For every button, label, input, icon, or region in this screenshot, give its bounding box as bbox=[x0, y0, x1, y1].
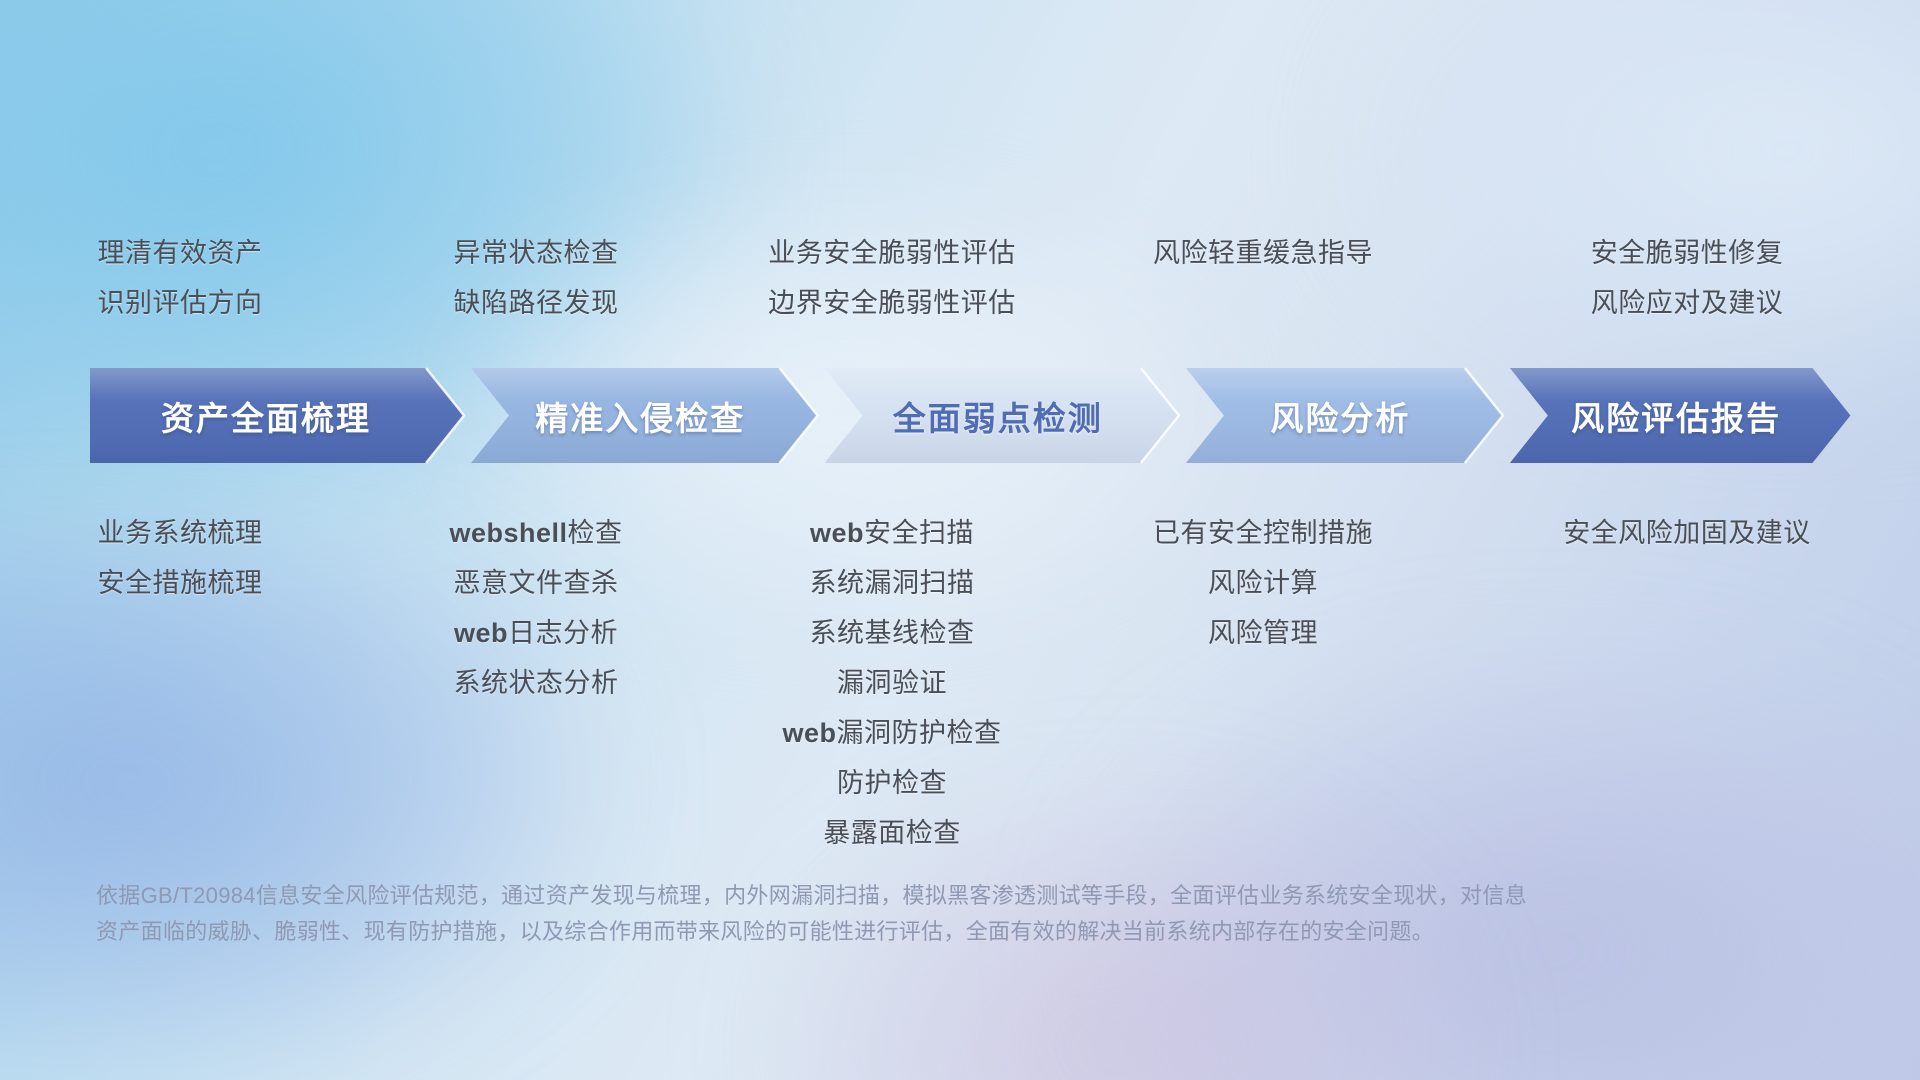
top-item: 业务安全脆弱性评估 bbox=[768, 228, 1016, 278]
bottom-item-latin: webshell bbox=[449, 518, 567, 548]
top-item: 安全脆弱性修复 bbox=[1591, 228, 1784, 278]
bottom-item: 安全风险加固及建议 bbox=[1563, 508, 1811, 558]
bottom-item: 系统基线检查 bbox=[810, 608, 975, 658]
bottom-item-cjk: 风险计算 bbox=[1208, 568, 1318, 598]
bottom-item-cjk: 系统基线检查 bbox=[810, 618, 975, 648]
process-stage-gloss-asset-inventory bbox=[90, 368, 464, 463]
bottom-item: web漏洞防护检查 bbox=[782, 708, 1001, 758]
bottom-item-cjk: 安全措施梳理 bbox=[98, 568, 263, 598]
top-label-row: 理清有效资产识别评估方向异常状态检查缺陷路径发现业务安全脆弱性评估边界安全脆弱性… bbox=[0, 228, 1920, 338]
bottom-item: 系统状态分析 bbox=[454, 658, 619, 708]
bottom-item: 业务系统梳理 bbox=[98, 508, 263, 558]
process-stage-gloss-weakness-detection bbox=[825, 368, 1179, 463]
bottom-column-asset-inventory: 业务系统梳理安全措施梳理 bbox=[0, 508, 360, 608]
bottom-item-cjk: 安全风险加固及建议 bbox=[1563, 518, 1811, 548]
bottom-item-cjk: 漏洞验证 bbox=[837, 668, 947, 698]
bottom-item-cjk: 风险管理 bbox=[1208, 618, 1318, 648]
bottom-item: web日志分析 bbox=[454, 608, 618, 658]
process-chevron-bar: 资产全面梳理精准入侵检查全面弱点检测风险分析风险评估报告 bbox=[90, 368, 1850, 463]
bottom-column-assessment-report: 安全风险加固及建议 bbox=[1454, 508, 1920, 558]
bottom-item: webshell检查 bbox=[449, 508, 622, 558]
bottom-column-weakness-detection: web安全扫描系统漏洞扫描系统基线检查漏洞验证web漏洞防护检查防护检查暴露面检… bbox=[712, 508, 1072, 858]
bottom-column-risk-analysis: 已有安全控制措施风险计算风险管理 bbox=[1072, 508, 1454, 658]
bottom-column-intrusion-check: webshell检查恶意文件查杀web日志分析系统状态分析 bbox=[360, 508, 712, 708]
process-stage-gloss-assessment-report bbox=[1510, 368, 1851, 463]
bottom-item: web安全扫描 bbox=[810, 508, 974, 558]
top-column-weakness-detection: 业务安全脆弱性评估边界安全脆弱性评估 bbox=[712, 228, 1072, 338]
bottom-item-latin: web bbox=[810, 518, 864, 548]
top-item: 风险轻重缓急指导 bbox=[1153, 228, 1373, 278]
bottom-item: 恶意文件查杀 bbox=[454, 558, 619, 608]
top-item: 风险应对及建议 bbox=[1591, 278, 1784, 328]
footer-line-2: 资产面临的威胁、脆弱性、现有防护措施，以及综合作用而带来风险的可能性进行评估，全… bbox=[96, 914, 1616, 950]
bottom-item-cjk: 系统状态分析 bbox=[454, 668, 619, 698]
top-item: 理清有效资产 bbox=[98, 228, 263, 278]
bottom-item-cjk: 安全扫描 bbox=[864, 518, 974, 548]
process-stage-gloss-intrusion-check bbox=[471, 368, 817, 463]
top-item: 识别评估方向 bbox=[98, 278, 263, 328]
footer-line-1: 依据GB/T20984信息安全风险评估规范，通过资产发现与梳理，内外网漏洞扫描，… bbox=[96, 878, 1616, 914]
top-item: 边界安全脆弱性评估 bbox=[768, 278, 1016, 328]
bottom-item: 暴露面检查 bbox=[823, 808, 961, 858]
bottom-item: 风险管理 bbox=[1208, 608, 1318, 658]
bottom-item: 防护检查 bbox=[837, 758, 947, 808]
bottom-item: 已有安全控制措施 bbox=[1153, 508, 1373, 558]
bottom-item-cjk: 系统漏洞扫描 bbox=[810, 568, 975, 598]
top-column-risk-analysis: 风险轻重缓急指导 bbox=[1072, 228, 1454, 338]
bottom-item-cjk: 漏洞防护检查 bbox=[837, 718, 1002, 748]
process-stage-gloss-risk-analysis bbox=[1186, 368, 1503, 463]
top-item: 异常状态检查 bbox=[454, 228, 619, 278]
bottom-item: 系统漏洞扫描 bbox=[810, 558, 975, 608]
bottom-item-cjk: 检查 bbox=[568, 518, 623, 548]
top-column-assessment-report: 安全脆弱性修复风险应对及建议 bbox=[1454, 228, 1920, 338]
bottom-item-cjk: 已有安全控制措施 bbox=[1153, 518, 1373, 548]
bottom-item: 安全措施梳理 bbox=[98, 558, 263, 608]
infographic-canvas: 理清有效资产识别评估方向异常状态检查缺陷路径发现业务安全脆弱性评估边界安全脆弱性… bbox=[0, 0, 1920, 1080]
footer-description: 依据GB/T20984信息安全风险评估规范，通过资产发现与梳理，内外网漏洞扫描，… bbox=[96, 878, 1616, 950]
bottom-item-latin: web bbox=[454, 618, 508, 648]
bottom-item-latin: web bbox=[782, 718, 836, 748]
top-item: 缺陷路径发现 bbox=[454, 278, 619, 328]
bottom-item-cjk: 业务系统梳理 bbox=[98, 518, 263, 548]
bottom-item-cjk: 日志分析 bbox=[508, 618, 618, 648]
bottom-item-cjk: 防护检查 bbox=[837, 768, 947, 798]
bottom-item: 漏洞验证 bbox=[837, 658, 947, 708]
top-column-intrusion-check: 异常状态检查缺陷路径发现 bbox=[360, 228, 712, 338]
bottom-label-row: 业务系统梳理安全措施梳理webshell检查恶意文件查杀web日志分析系统状态分… bbox=[0, 508, 1920, 858]
process-chevron-svg bbox=[90, 368, 1850, 463]
bottom-item: 风险计算 bbox=[1208, 558, 1318, 608]
top-column-asset-inventory: 理清有效资产识别评估方向 bbox=[0, 228, 360, 338]
bottom-item-cjk: 恶意文件查杀 bbox=[454, 568, 619, 598]
bottom-item-cjk: 暴露面检查 bbox=[823, 818, 961, 848]
